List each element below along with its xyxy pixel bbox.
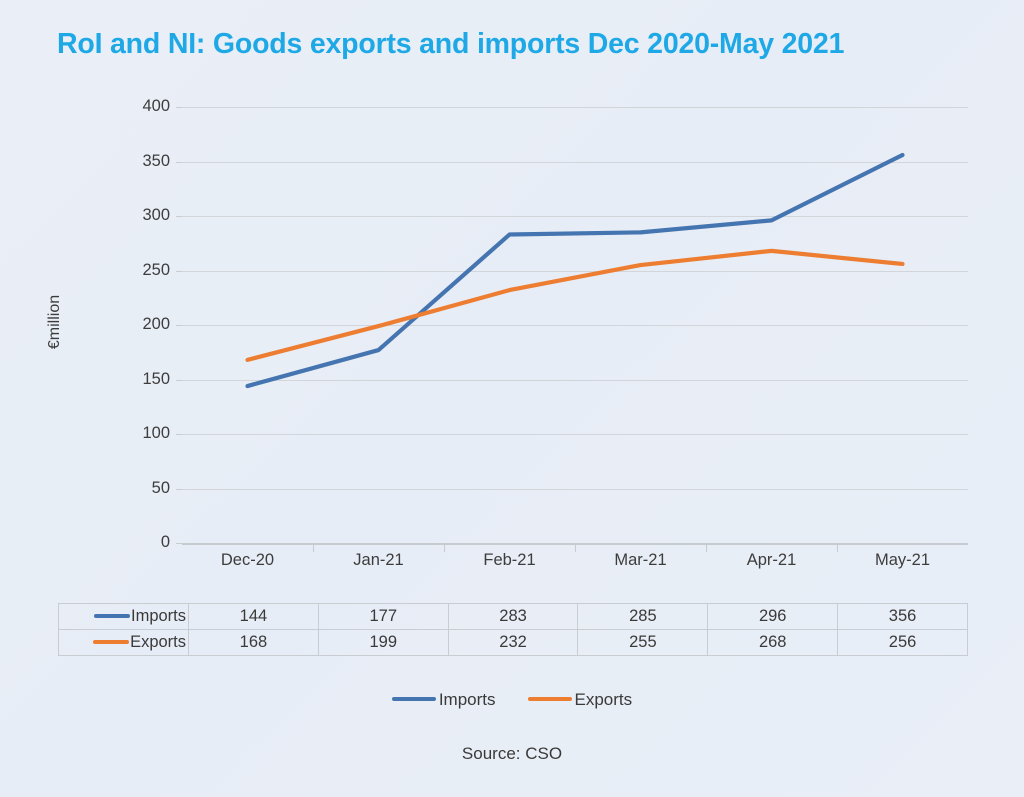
series-line-imports — [248, 155, 903, 386]
legend-color-swatch-icon — [528, 697, 572, 701]
y-tick-label: 300 — [102, 206, 170, 225]
chart-page: RoI and NI: Goods exports and imports De… — [0, 0, 1024, 797]
y-tick-label: 350 — [102, 152, 170, 171]
legend-label: Exports — [575, 690, 633, 709]
table-row: Exports168199232255268256 — [59, 630, 968, 656]
x-tick-separator — [575, 543, 576, 552]
data-table-body: Imports144177283285296356Exports16819923… — [59, 604, 968, 656]
y-axis-title: €million — [46, 232, 70, 412]
table-cell: 285 — [578, 604, 708, 630]
y-tick-label: 0 — [102, 533, 170, 552]
table-row-key: Imports — [59, 604, 189, 630]
table-cell: 168 — [189, 630, 319, 656]
table-cell: 283 — [448, 604, 578, 630]
legend-item-exports[interactable]: Exports — [528, 690, 633, 710]
x-tick-label: May-21 — [837, 551, 968, 570]
x-tick-label: Dec-20 — [182, 551, 313, 570]
x-tick-separator — [444, 543, 445, 552]
source-note: Source: CSO — [0, 744, 1024, 764]
x-tick-label: Apr-21 — [706, 551, 837, 570]
legend-item-imports[interactable]: Imports — [392, 690, 496, 710]
table-cell: 144 — [189, 604, 319, 630]
y-tick-label: 250 — [102, 261, 170, 280]
table-cell: 177 — [318, 604, 448, 630]
x-tick-label: Jan-21 — [313, 551, 444, 570]
table-cell: 232 — [448, 630, 578, 656]
table-cell: 256 — [838, 630, 968, 656]
x-tick-separator — [706, 543, 707, 552]
x-tick-separator — [837, 543, 838, 552]
y-tick-label: 400 — [102, 97, 170, 116]
x-tick-separator — [313, 543, 314, 552]
x-tick-label: Feb-21 — [444, 551, 575, 570]
data-table: Imports144177283285296356Exports16819923… — [58, 603, 968, 656]
legend: ImportsExports — [0, 690, 1024, 710]
plot-area — [182, 107, 968, 543]
table-cell: 255 — [578, 630, 708, 656]
y-tick-label: 50 — [102, 479, 170, 498]
y-tick-label: 200 — [102, 315, 170, 334]
legend-label: Imports — [439, 690, 496, 709]
table-row: Imports144177283285296356 — [59, 604, 968, 630]
table-row-label: Imports — [131, 604, 186, 629]
series-line-exports — [248, 251, 903, 360]
table-cell: 199 — [318, 630, 448, 656]
legend-color-swatch-icon — [392, 697, 436, 701]
y-tick-label: 100 — [102, 424, 170, 443]
table-cell: 356 — [838, 604, 968, 630]
series-color-swatch-icon — [94, 614, 130, 618]
table-cell: 268 — [708, 630, 838, 656]
table-row-label: Exports — [130, 630, 186, 655]
series-color-swatch-icon — [93, 640, 129, 644]
series-lines — [182, 107, 968, 543]
table-cell: 296 — [708, 604, 838, 630]
y-tick-label: 150 — [102, 370, 170, 389]
table-row-key: Exports — [59, 630, 189, 656]
page-title: RoI and NI: Goods exports and imports De… — [57, 28, 987, 61]
x-tick-label: Mar-21 — [575, 551, 706, 570]
